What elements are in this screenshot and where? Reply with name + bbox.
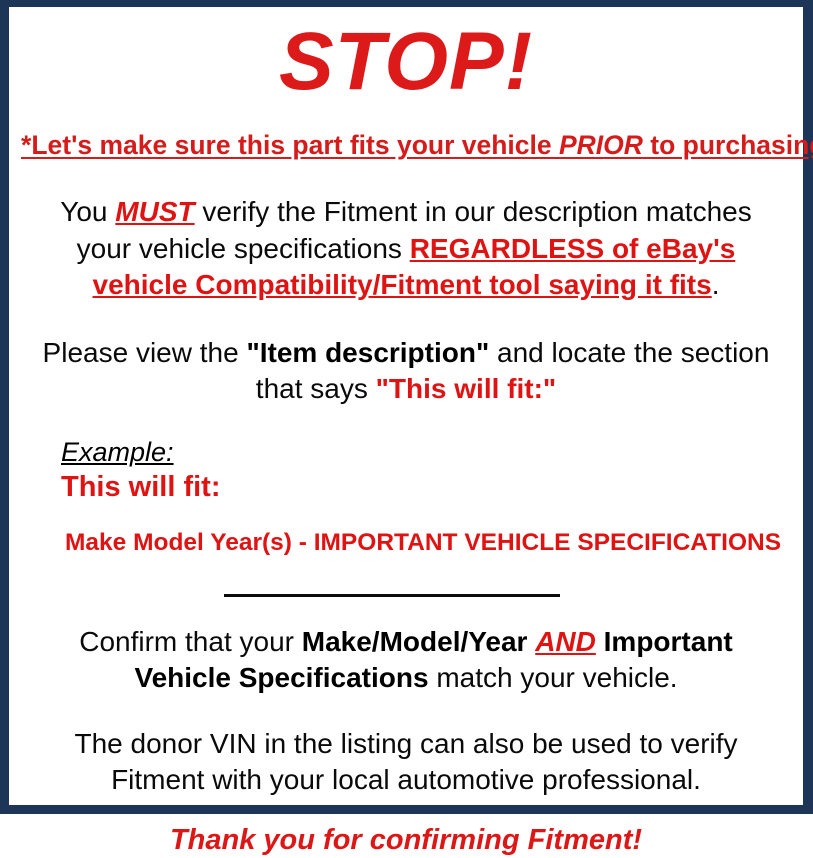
paragraph-confirm: Confirm that your Make/Model/Year AND Im… [21,602,791,696]
fitment-notice-frame: STOP! *Let's make sure this part fits yo… [0,0,813,814]
example-fit-heading: This will fit: [61,468,791,504]
fitment-notice-body: STOP! *Let's make sure this part fits yo… [9,7,803,805]
confirm-part4-text: match your vehicle. [429,662,678,693]
horizontal-rule [224,594,560,597]
stop-title: STOP! [21,7,791,103]
paragraph-item-description: Please view the "Item description" and l… [21,303,791,407]
and-emphasis: AND [535,626,596,657]
make-model-year-emphasis: Make/Model/Year [302,626,528,657]
description-part1-text: Please view the [43,337,247,368]
must-emphasis: MUST [115,196,194,227]
notice-subtitle: *Let's make sure this part fits your veh… [21,103,791,160]
this-will-fit-emphasis: "This will fit:" [376,373,557,404]
example-label: Example: [61,437,174,468]
must-part3-text: . [712,269,720,300]
must-part1-text: You [60,196,115,227]
paragraph-must-verify: You MUST verify the Fitment in our descr… [21,160,791,302]
example-label-row: Example: [61,437,791,468]
example-block: Example: This will fit: Make Model Year(… [21,407,791,558]
subtitle-prefix-text: *Let's make sure this part fits your veh… [21,130,559,160]
confirm-part1-text: Confirm that your [79,626,302,657]
item-description-emphasis: "Item description" [246,337,489,368]
subtitle-suffix-text: to purchasing* [643,130,813,160]
example-spec-line: Make Model Year(s) - IMPORTANT VEHICLE S… [61,504,791,557]
paragraph-donor-vin: The donor VIN in the listing can also be… [21,696,791,798]
closing-thank-you: Thank you for confirming Fitment! [21,798,791,858]
confirm-part3-text [596,626,604,657]
divider-wrapper [21,558,791,602]
subtitle-prior-emphasis: PRIOR [559,130,643,160]
